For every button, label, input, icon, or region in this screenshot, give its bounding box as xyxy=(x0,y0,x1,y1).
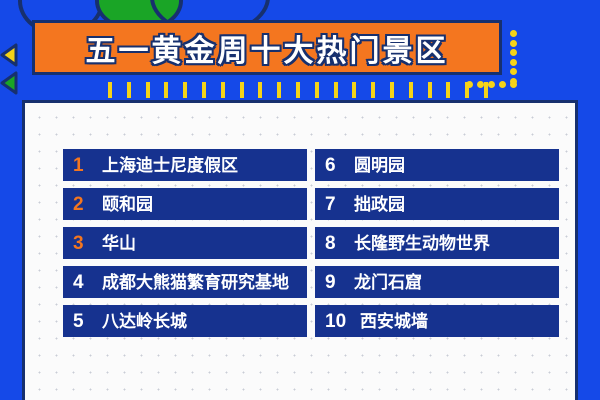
attraction-rank: 5 xyxy=(73,312,97,331)
attraction-rank: 3 xyxy=(73,234,97,253)
attraction-name: 长隆野生动物世界 xyxy=(354,235,490,252)
tick-mark xyxy=(258,82,262,98)
tick-mark xyxy=(315,82,319,98)
attraction-row[interactable]: 10西安城墙 xyxy=(315,305,559,337)
attraction-row[interactable]: 1上海迪士尼度假区 xyxy=(63,149,307,181)
poster-root: 五一黄金周十大热门景区 1上海迪士尼度假区2颐和园3华山4成都大熊猫繁育研究基地… xyxy=(0,0,600,400)
attraction-name: 拙政园 xyxy=(354,196,405,213)
attraction-rank: 2 xyxy=(73,195,97,214)
attraction-column-right: 6圆明园7拙政园8长隆野生动物世界9龙门石窟10西安城墙 xyxy=(315,149,559,337)
attraction-list: 1上海迪士尼度假区2颐和园3华山4成都大熊猫繁育研究基地5八达岭长城 6圆明园7… xyxy=(63,149,559,337)
tick-strip xyxy=(108,82,488,98)
tick-mark xyxy=(446,82,450,98)
attraction-row[interactable]: 8长隆野生动物世界 xyxy=(315,227,559,259)
attraction-name: 颐和园 xyxy=(102,196,153,213)
attraction-column-left: 1上海迪士尼度假区2颐和园3华山4成都大熊猫繁育研究基地5八达岭长城 xyxy=(63,149,307,337)
tick-mark xyxy=(296,82,300,98)
attraction-name: 八达岭长城 xyxy=(102,313,187,330)
tick-mark xyxy=(127,82,131,98)
attraction-name: 圆明园 xyxy=(354,157,405,174)
banner-border-dot xyxy=(488,81,495,88)
attraction-rank: 6 xyxy=(325,156,349,175)
page-title: 五一黄金周十大热门景区 xyxy=(86,26,449,70)
tick-mark xyxy=(465,82,469,98)
attraction-name: 华山 xyxy=(102,235,136,252)
title-banner: 五一黄金周十大热门景区 xyxy=(32,20,502,75)
banner-border-dot xyxy=(510,40,517,47)
banner-border-dot xyxy=(510,30,517,37)
tick-mark xyxy=(240,82,244,98)
attraction-row[interactable]: 6圆明园 xyxy=(315,149,559,181)
attraction-rank: 8 xyxy=(325,234,349,253)
attraction-name: 成都大熊猫繁育研究基地 xyxy=(102,274,289,291)
tick-mark xyxy=(428,82,432,98)
banner-border-dot xyxy=(510,49,517,56)
tick-mark xyxy=(371,82,375,98)
tick-mark xyxy=(409,82,413,98)
tick-mark xyxy=(484,82,488,98)
banner-border-dot xyxy=(499,81,506,88)
banner-border-dot xyxy=(510,68,517,75)
tick-mark xyxy=(183,82,187,98)
attraction-row[interactable]: 4成都大熊猫繁育研究基地 xyxy=(63,266,307,298)
attraction-row[interactable]: 7拙政园 xyxy=(315,188,559,220)
attraction-rank: 1 xyxy=(73,156,97,175)
tick-mark xyxy=(108,82,112,98)
attraction-name: 西安城墙 xyxy=(360,313,428,330)
attraction-rank: 4 xyxy=(73,273,97,292)
banner-border-dot xyxy=(510,59,517,66)
tick-mark xyxy=(221,82,225,98)
attraction-rank: 10 xyxy=(325,312,355,331)
attraction-row[interactable]: 3华山 xyxy=(63,227,307,259)
banner-border-dot xyxy=(510,81,517,88)
tick-mark xyxy=(352,82,356,98)
attraction-name: 龙门石窟 xyxy=(354,274,422,291)
attraction-rank: 7 xyxy=(325,195,349,214)
tick-mark xyxy=(334,82,338,98)
tick-mark xyxy=(202,82,206,98)
attraction-row[interactable]: 5八达岭长城 xyxy=(63,305,307,337)
tick-mark xyxy=(164,82,168,98)
tick-mark xyxy=(277,82,281,98)
attraction-row[interactable]: 9龙门石窟 xyxy=(315,266,559,298)
tick-mark xyxy=(146,82,150,98)
content-card: 1上海迪士尼度假区2颐和园3华山4成都大熊猫繁育研究基地5八达岭长城 6圆明园7… xyxy=(22,100,578,400)
tick-mark xyxy=(390,82,394,98)
attraction-name: 上海迪士尼度假区 xyxy=(102,157,238,174)
attraction-row[interactable]: 2颐和园 xyxy=(63,188,307,220)
attraction-rank: 9 xyxy=(325,273,349,292)
